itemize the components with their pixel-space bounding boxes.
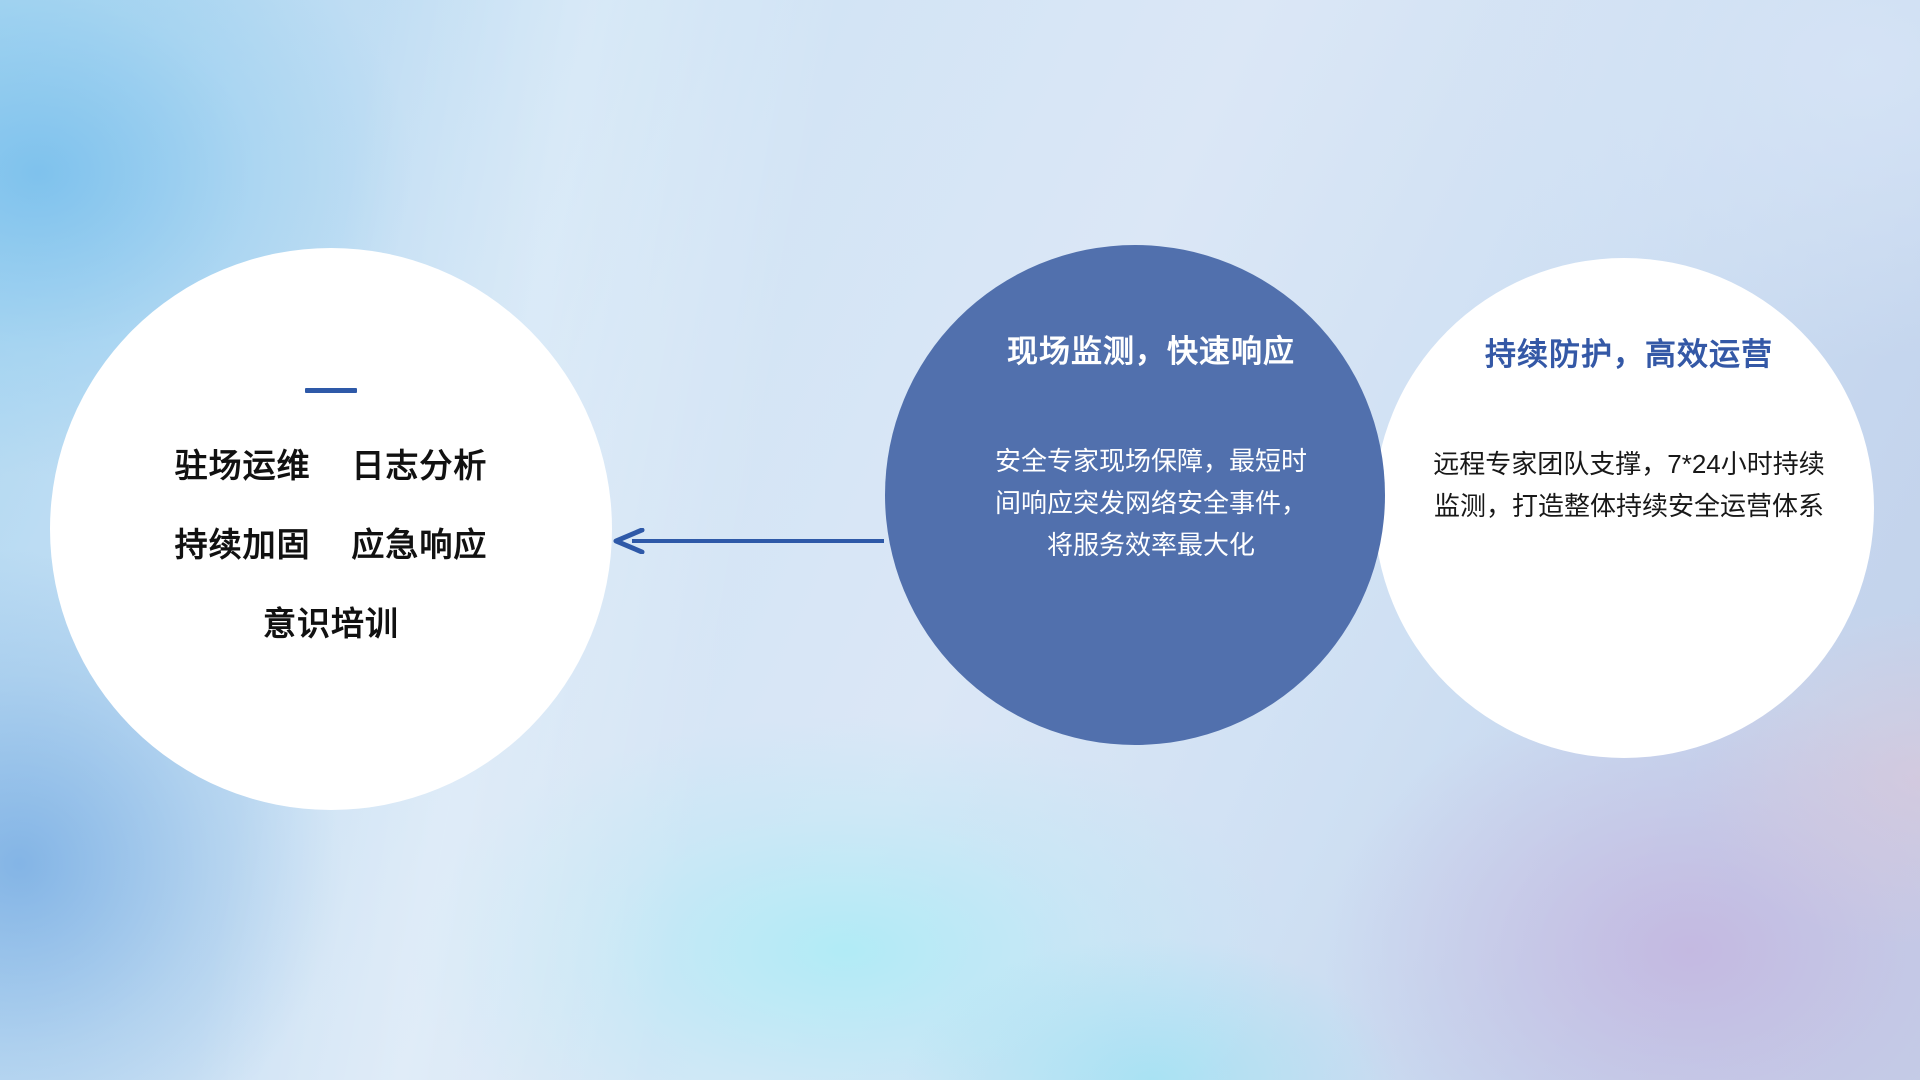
connector-arrow-left-icon	[612, 528, 884, 554]
slide-canvas: 驻场运维 日志分析 持续加固 应急响应 意识培训 持续防护，高效运营 远程专家团…	[0, 0, 1920, 1080]
capability-circle-center[interactable]: 现场监测，快速响应 安全专家现场保障，最短时间响应突发网络安全事件，将服务效率最…	[885, 245, 1385, 745]
left-circle-content: 驻场运维 日志分析 持续加固 应急响应 意识培训	[50, 388, 612, 640]
left-circle-line-2: 持续加固 应急响应	[50, 528, 612, 561]
right-circle-body: 远程专家团队支撑，7*24小时持续监测，打造整体持续安全运营体系	[1429, 443, 1829, 527]
center-circle-body: 安全专家现场保障，最短时间响应突发网络安全事件，将服务效率最大化	[994, 440, 1309, 566]
left-circle-line-1: 驻场运维 日志分析	[50, 449, 612, 482]
center-circle-title: 现场监测，快速响应	[927, 333, 1375, 370]
right-circle-content: 持续防护，高效运营 远程专家团队支撑，7*24小时持续监测，打造整体持续安全运营…	[1400, 336, 1858, 527]
capability-circle-left[interactable]: 驻场运维 日志分析 持续加固 应急响应 意识培训	[50, 248, 612, 810]
left-circle-line-3: 意识培训	[50, 607, 612, 640]
right-circle-title: 持续防护，高效运营	[1400, 336, 1858, 373]
accent-divider	[305, 388, 357, 393]
capability-circle-right[interactable]: 持续防护，高效运营 远程专家团队支撑，7*24小时持续监测，打造整体持续安全运营…	[1374, 258, 1874, 758]
center-circle-content: 现场监测，快速响应 安全专家现场保障，最短时间响应突发网络安全事件，将服务效率最…	[927, 333, 1375, 567]
